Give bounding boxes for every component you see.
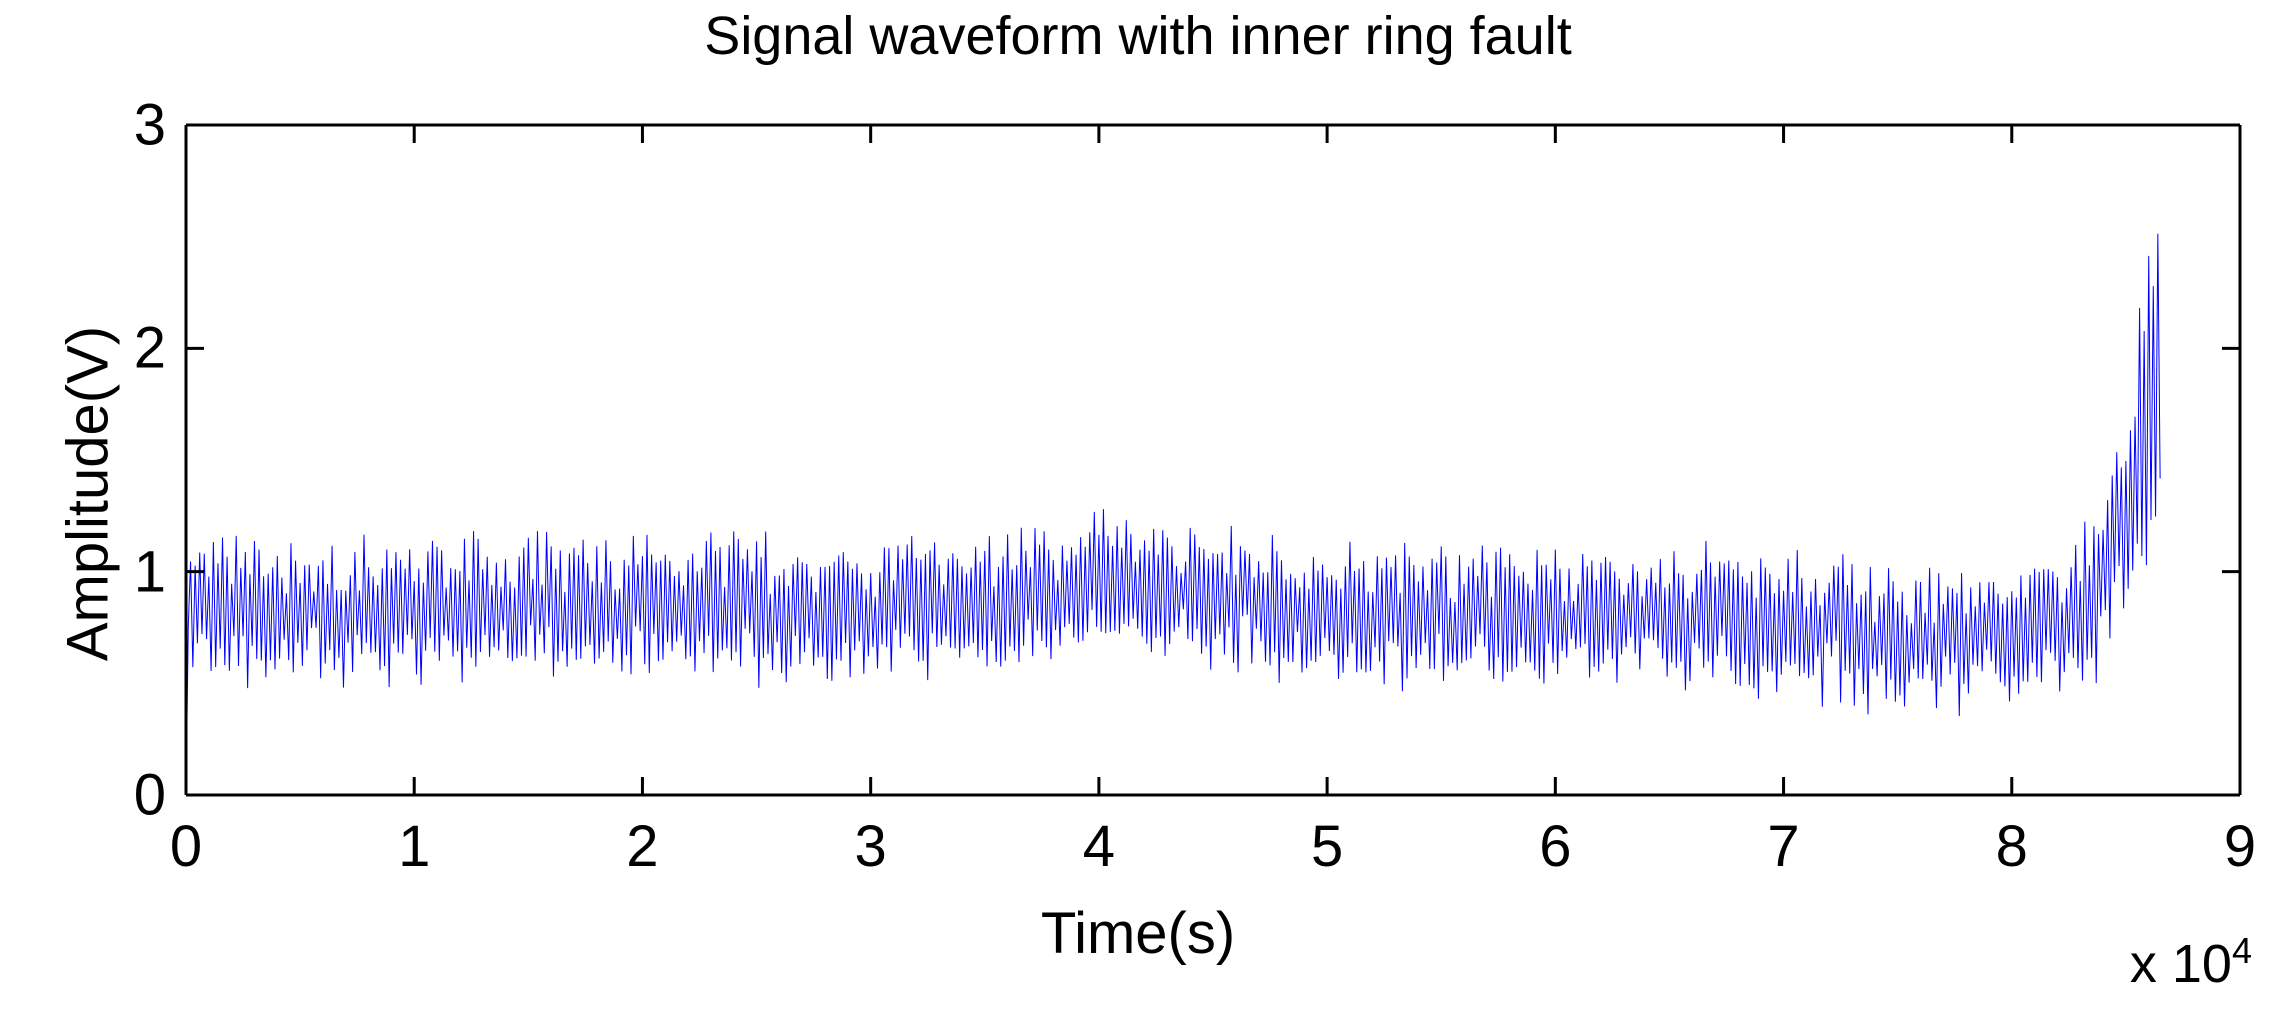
x-tick-label: 3 xyxy=(855,813,887,880)
figure-canvas: Signal waveform with inner ring fault 01… xyxy=(0,0,2276,1036)
x-axis-exponent-label: x 104 xyxy=(2130,930,2252,995)
plot-area xyxy=(0,0,2276,1036)
x-tick-label: 6 xyxy=(1539,813,1571,880)
x-tick-label: 1 xyxy=(398,813,430,880)
x-axis-label: Time(s) xyxy=(0,900,2276,967)
y-axis-label: Amplitude(V) xyxy=(55,144,122,844)
x-tick-label: 5 xyxy=(1311,813,1343,880)
exponent-power: 4 xyxy=(2232,930,2252,971)
signal-waveform-path xyxy=(186,234,2160,795)
exponent-mantissa: x 10 xyxy=(2130,934,2232,994)
x-tick-label: 4 xyxy=(1083,813,1115,880)
waveform-series xyxy=(186,234,2160,795)
x-tick-label: 7 xyxy=(1767,813,1799,880)
axes-frame xyxy=(186,125,2240,795)
x-tick-label: 8 xyxy=(1996,813,2028,880)
x-tick-label: 2 xyxy=(626,813,658,880)
x-tick-label: 9 xyxy=(2224,813,2256,880)
x-tick-label: 0 xyxy=(170,813,202,880)
